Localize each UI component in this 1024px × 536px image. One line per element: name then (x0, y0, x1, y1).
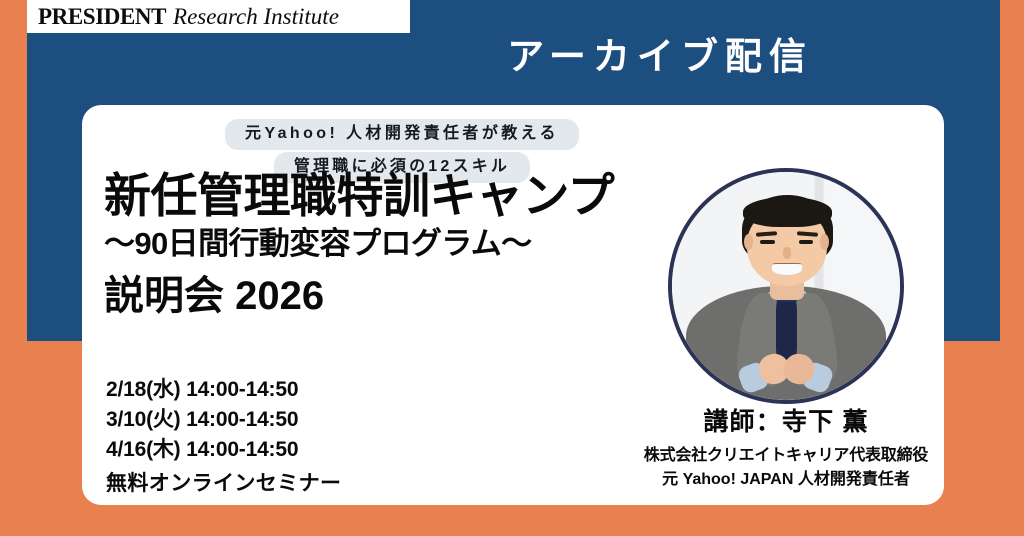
portrait-eye-left (760, 240, 775, 244)
portrait-mouth (772, 263, 802, 274)
brand-name-bold: PRESIDENT (38, 4, 166, 30)
session-title: 説明会 2026 (104, 274, 614, 318)
poster-canvas: PRESIDENT Research Institute アーカイブ配信 元Ya… (0, 0, 1024, 536)
portrait-ear-right (820, 234, 829, 250)
schedule-row: 3/10(火) 14:00-14:50 (106, 405, 341, 435)
speaker-info: 講師：寺下 薫 株式会社クリエイトキャリア代表取締役 元 Yahoo! JAPA… (588, 407, 984, 493)
schedule-list: 2/18(水) 14:00-14:50 3/10(火) 14:00-14:50 … (106, 375, 341, 500)
portrait-eye-right (799, 240, 814, 244)
portrait-nose (783, 247, 791, 258)
speaker-previous-title: 元 Yahoo! JAPAN 人材開発責任者 (588, 468, 984, 492)
content-card: 元Yahoo! 人材開発責任者が教える 管理職に必須の12スキル 新任管理職特訓… (82, 105, 944, 505)
program-subtitle: 〜90日間行動変容プログラム〜 (104, 226, 614, 263)
portrait-ear-left (744, 234, 753, 250)
headline-group: 新任管理職特訓キャンプ 〜90日間行動変容プログラム〜 説明会 2026 (104, 171, 614, 318)
archive-headline: アーカイブ配信 (410, 36, 910, 77)
speaker-portrait (668, 168, 904, 404)
program-title: 新任管理職特訓キャンプ (104, 171, 614, 222)
speaker-name: 講師：寺下 薫 (588, 407, 984, 437)
brand-name-italic: Research Institute (173, 4, 339, 30)
portrait-hair-front (743, 197, 832, 227)
schedule-note: 無料オンラインセミナー (106, 468, 341, 500)
brand-masthead: PRESIDENT Research Institute (27, 0, 410, 33)
schedule-row: 4/16(木) 14:00-14:50 (106, 435, 341, 465)
speaker-org-title: 株式会社クリエイトキャリア代表取締役 (588, 444, 984, 468)
badge-line-1: 元Yahoo! 人材開発責任者が教える (225, 119, 579, 150)
portrait-ring (668, 168, 904, 404)
schedule-row: 2/18(水) 14:00-14:50 (106, 375, 341, 405)
